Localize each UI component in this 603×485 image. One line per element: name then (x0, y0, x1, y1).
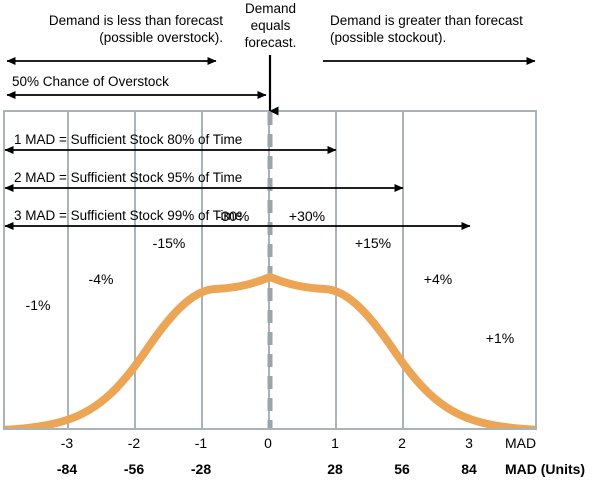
x-tick-neg3: -3 (37, 435, 97, 451)
diagram-canvas: Demand is less than forecast (possible o… (0, 0, 603, 485)
label-demand-equals-forecast: Demand equals forecast. (228, 0, 313, 51)
x-tick-neg2: -2 (104, 435, 164, 451)
band-label-neg4pct: -4% (71, 271, 131, 287)
x-unit-tick-pos56: 56 (372, 461, 432, 477)
band-label-pos30pct: +30% (276, 208, 338, 224)
x-tick-zero: 0 (238, 435, 298, 451)
x-unit-tick-pos84: 84 (439, 461, 499, 477)
label-50pct-overstock: 50% Chance of Overstock (12, 74, 169, 89)
x-unit-tick-neg56: -56 (104, 461, 164, 477)
label-3-mad-coverage: 3 MAD = Sufficient Stock 99% of Time (14, 208, 242, 223)
bell-curve-svg (5, 112, 535, 428)
x-axis-name-mad: MAD (505, 435, 536, 451)
x-tick-pos2: 2 (372, 435, 432, 451)
x-tick-neg1: -1 (171, 435, 231, 451)
label-demand-greater-than-forecast: Demand is greater than forecast (possibl… (330, 12, 545, 46)
distribution-plot-box: -1% -4% -15% -30% +30% +15% +4% +1% 1 MA… (3, 110, 537, 430)
label-demand-less-than-forecast: Demand is less than forecast (possible o… (8, 12, 223, 46)
band-label-neg15pct: -15% (138, 235, 200, 251)
x-unit-tick-neg84: -84 (37, 461, 97, 477)
label-1-mad-coverage: 1 MAD = Sufficient Stock 80% of Time (14, 132, 242, 147)
band-label-pos4pct: +4% (409, 271, 467, 287)
x-tick-pos1: 1 (305, 435, 365, 451)
x-unit-tick-pos28: 28 (305, 461, 365, 477)
x-axis-name-mad-units: MAD (Units) (505, 461, 585, 477)
x-unit-tick-neg28: -28 (171, 461, 231, 477)
label-2-mad-coverage: 2 MAD = Sufficient Stock 95% of Time (14, 170, 242, 185)
band-label-neg1pct: -1% (9, 297, 67, 313)
band-label-pos1pct: +1% (471, 330, 529, 346)
x-tick-pos3: 3 (439, 435, 499, 451)
band-label-pos15pct: +15% (343, 235, 403, 251)
